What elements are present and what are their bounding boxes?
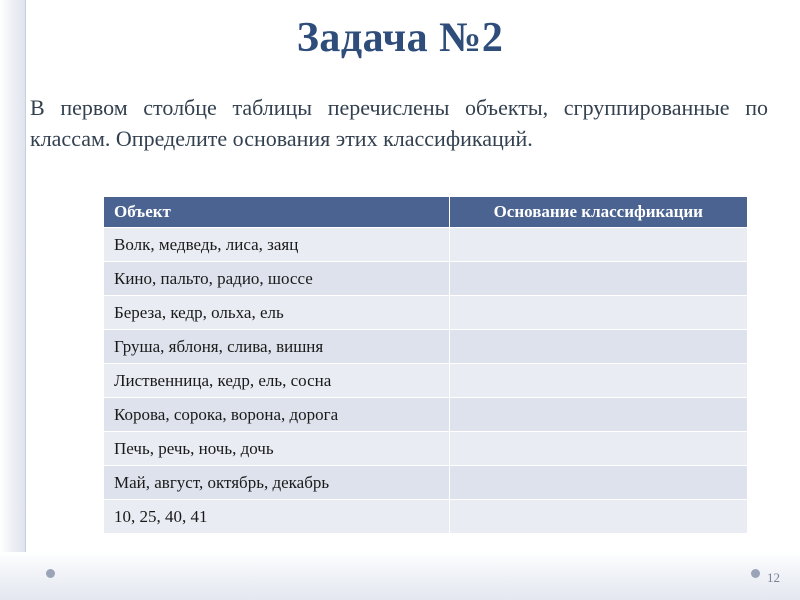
cell-object: Корова, сорока, ворона, дорога — [104, 398, 450, 432]
cell-object: Волк, медведь, лиса, заяц — [104, 228, 450, 262]
cell-object: Кино, пальто, радио, шоссе — [104, 262, 450, 296]
body-text: В первом столбце таблицы перечислены объ… — [30, 92, 768, 154]
page-title: Задача №2 — [0, 14, 800, 62]
cell-object: 10, 25, 40, 41 — [104, 500, 450, 534]
classification-table: Объект Основание классификации Волк, мед… — [103, 196, 748, 534]
table-row: Лиственница, кедр, ель, сосна — [104, 364, 748, 398]
table-row: Печь, речь, ночь, дочь — [104, 432, 748, 466]
table-row: Корова, сорока, ворона, дорога — [104, 398, 748, 432]
table-row: Кино, пальто, радио, шоссе — [104, 262, 748, 296]
left-decorative-band — [0, 0, 26, 600]
column-header-object: Объект — [104, 197, 450, 228]
bottom-decorative-band — [0, 552, 800, 600]
cell-object: Лиственница, кедр, ель, сосна — [104, 364, 450, 398]
cell-basis[interactable] — [449, 364, 747, 398]
left-band-divider — [25, 0, 26, 600]
cell-basis[interactable] — [449, 228, 747, 262]
table-row: Май, август, октябрь, декабрь — [104, 466, 748, 500]
cell-basis[interactable] — [449, 296, 747, 330]
cell-basis[interactable] — [449, 330, 747, 364]
bullet-dot-right-icon — [751, 569, 760, 578]
page-number: 12 — [767, 570, 780, 586]
cell-object: Груша, яблоня, слива, вишня — [104, 330, 450, 364]
cell-basis[interactable] — [449, 500, 747, 534]
table-row: Волк, медведь, лиса, заяц — [104, 228, 748, 262]
bullet-dot-left-icon — [46, 569, 55, 578]
table-row: Груша, яблоня, слива, вишня — [104, 330, 748, 364]
table-body: Волк, медведь, лиса, заяц Кино, пальто, … — [104, 228, 748, 534]
table-head: Объект Основание классификации — [104, 197, 748, 228]
table-row: 10, 25, 40, 41 — [104, 500, 748, 534]
table-row: Береза, кедр, ольха, ель — [104, 296, 748, 330]
cell-object: Май, август, октябрь, декабрь — [104, 466, 450, 500]
table-header-row: Объект Основание классификации — [104, 197, 748, 228]
cell-basis[interactable] — [449, 262, 747, 296]
cell-basis[interactable] — [449, 398, 747, 432]
cell-basis[interactable] — [449, 466, 747, 500]
cell-basis[interactable] — [449, 432, 747, 466]
column-header-basis: Основание классификации — [449, 197, 747, 228]
cell-object: Печь, речь, ночь, дочь — [104, 432, 450, 466]
cell-object: Береза, кедр, ольха, ель — [104, 296, 450, 330]
slide: Задача №2 В первом столбце таблицы переч… — [0, 0, 800, 600]
